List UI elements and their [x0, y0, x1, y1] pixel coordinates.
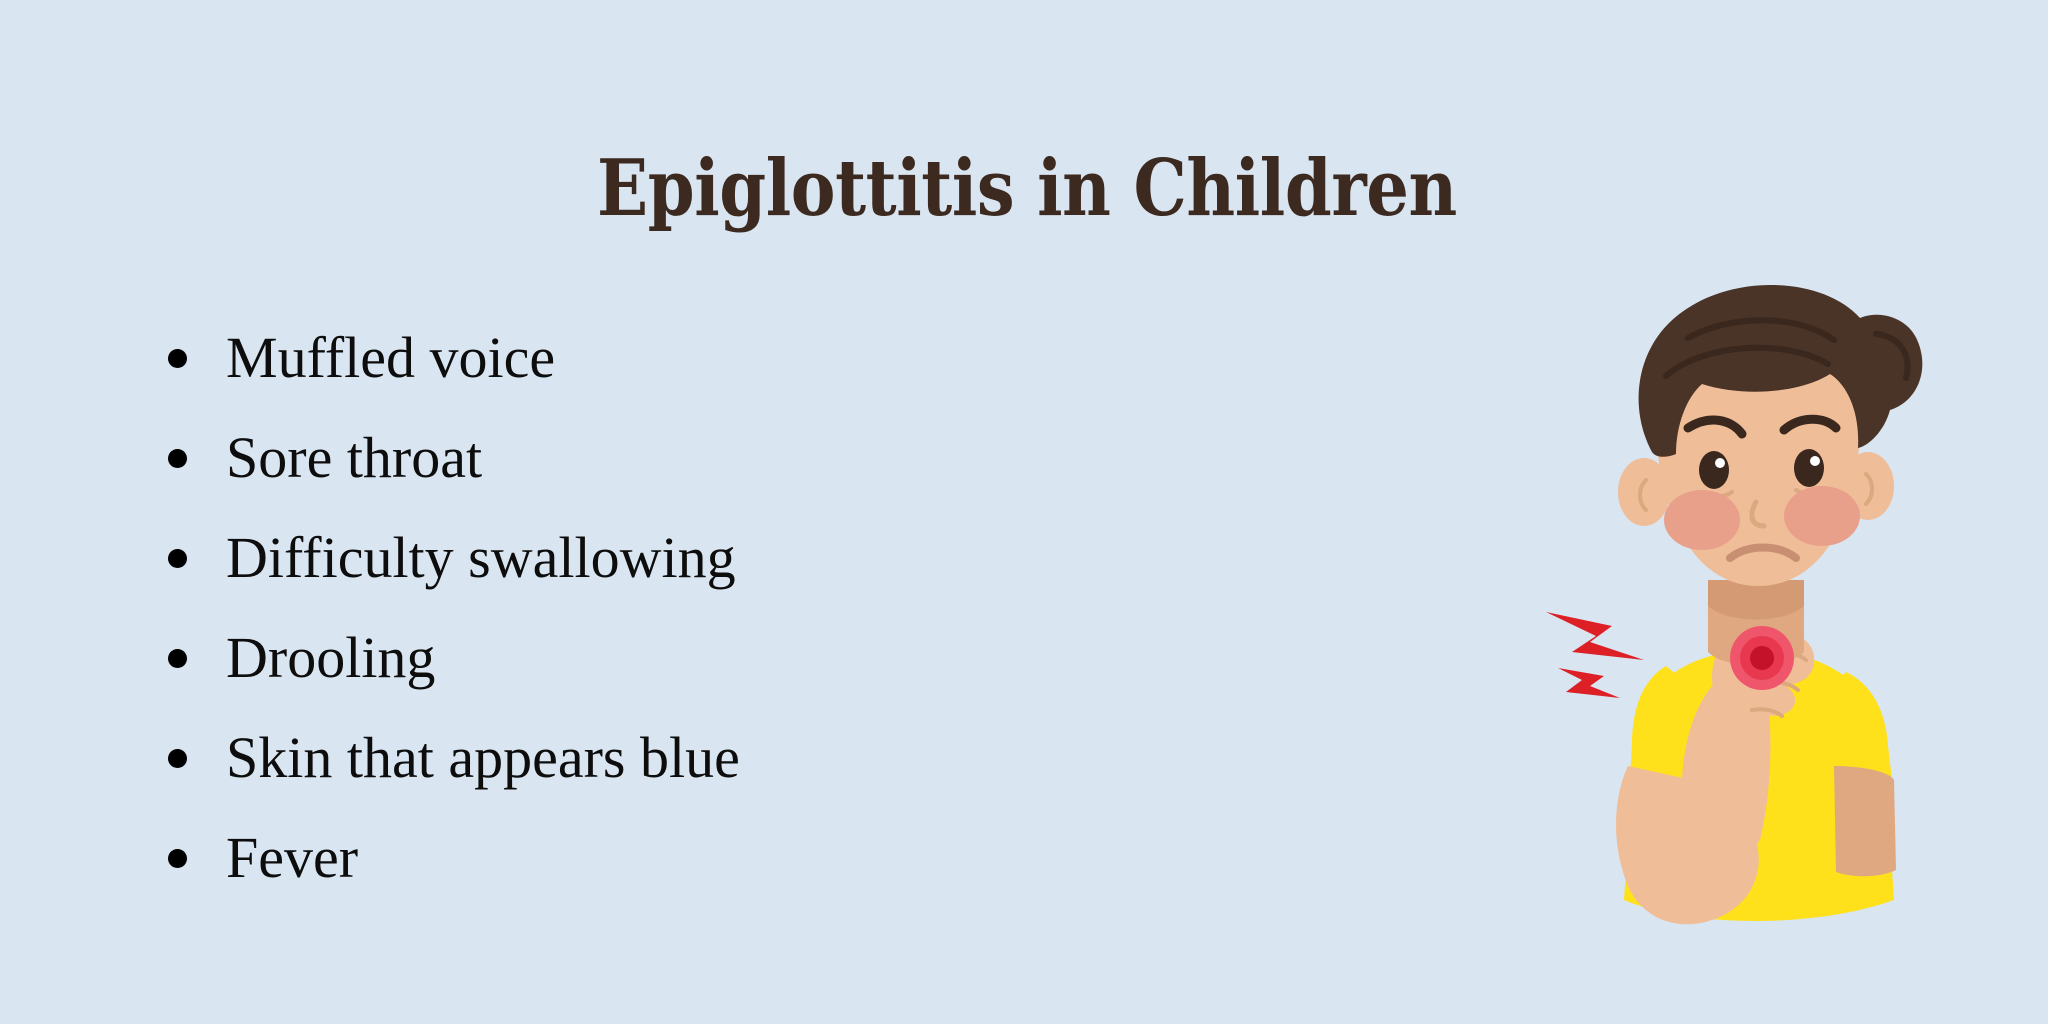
bullet-dot-icon	[168, 849, 187, 868]
eye-left	[1699, 451, 1729, 489]
cheek-right	[1784, 486, 1860, 546]
page-title: Epiglottitis in Children	[146, 150, 1907, 228]
head-group	[1618, 285, 1922, 586]
right-forearm	[1834, 766, 1896, 876]
symptom-label: Muffled voice	[226, 329, 555, 387]
bullet-dot-icon	[168, 449, 187, 468]
infographic-poster: Epiglottitis in Children Muffled voice S…	[0, 0, 2048, 1024]
boy-with-sore-throat-illustration	[1516, 280, 1996, 940]
symptom-label: Difficulty swallowing	[226, 529, 736, 587]
list-item: Drooling	[168, 608, 1168, 708]
symptom-label: Sore throat	[226, 429, 482, 487]
throat-pain-indicator	[1730, 626, 1794, 690]
eye-right	[1794, 449, 1824, 487]
bullet-dot-icon	[168, 749, 187, 768]
bullet-dot-icon	[168, 649, 187, 668]
right-arm-group	[1834, 766, 1896, 876]
shirt-sleeve-left	[1630, 666, 1688, 780]
symptom-label: Drooling	[226, 629, 435, 687]
symptom-label: Skin that appears blue	[226, 729, 740, 787]
symptom-label: Fever	[226, 829, 358, 887]
cheek-left	[1664, 490, 1740, 550]
list-item: Difficulty swallowing	[168, 508, 1168, 608]
symptom-list: Muffled voice Sore throat Difficulty swa…	[168, 308, 1168, 908]
list-item: Sore throat	[168, 408, 1168, 508]
pain-bolt-icon	[1546, 612, 1644, 698]
list-item: Skin that appears blue	[168, 708, 1168, 808]
list-item: Muffled voice	[168, 308, 1168, 408]
list-item: Fever	[168, 808, 1168, 908]
bullet-dot-icon	[168, 549, 187, 568]
bullet-dot-icon	[168, 349, 187, 368]
